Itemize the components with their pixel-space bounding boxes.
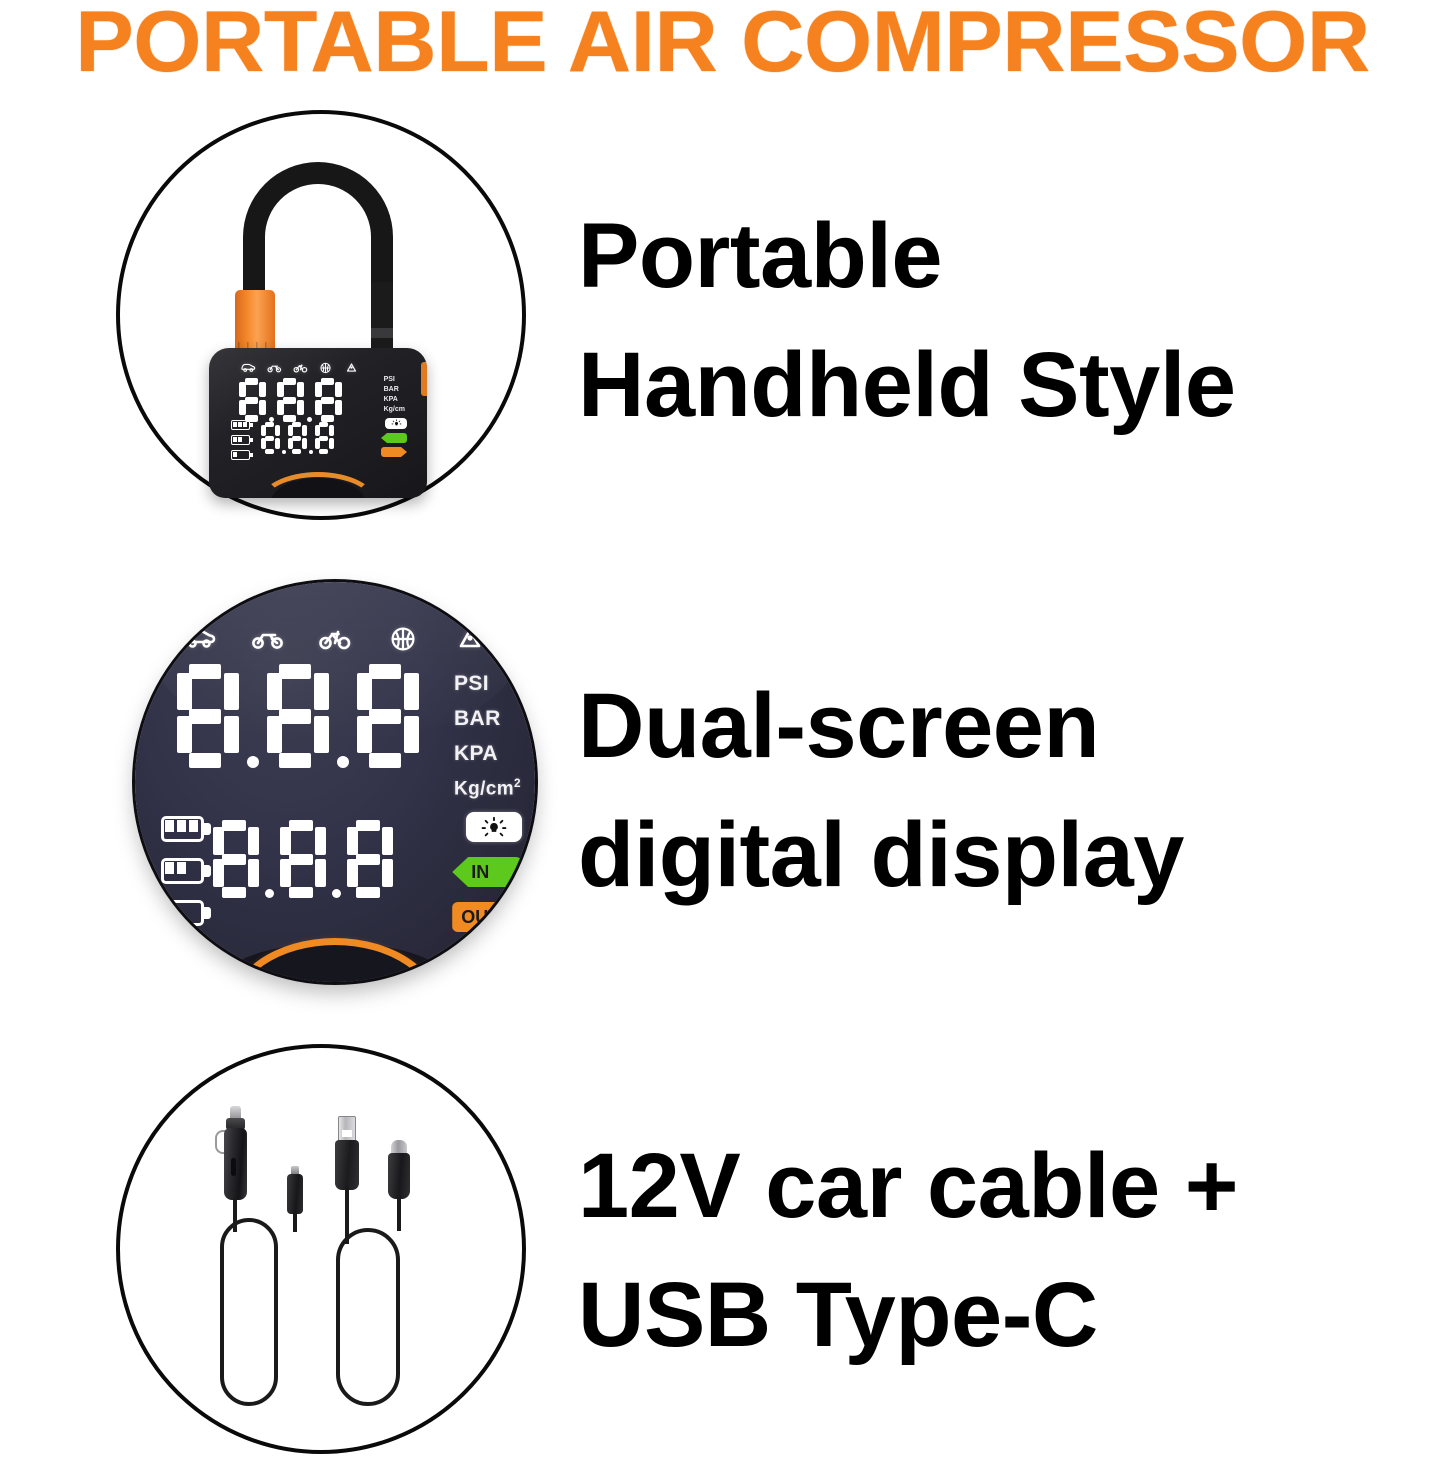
compressor-face-disc: PSI BAR KPA Kg/cm2 xyxy=(135,582,535,982)
battery-medium-icon xyxy=(161,858,211,884)
feature-row-portable-handheld: PSI BAR KPA Kg/cm xyxy=(0,96,1445,546)
light-icon xyxy=(385,418,407,429)
feature-text-display: Dual-screen digital display xyxy=(560,662,1445,920)
decimal-point xyxy=(337,756,349,768)
in-badge xyxy=(381,433,407,443)
plug-cable xyxy=(233,1198,237,1232)
feature-text-handheld: Portable Handheld Style xyxy=(560,192,1445,450)
mini-unit-kgcm2: Kg/cm xyxy=(384,406,405,413)
dc-body xyxy=(287,1174,303,1214)
decimal-point xyxy=(282,450,286,454)
page-title-band: PORTABLE AIR COMPRESSOR xyxy=(0,0,1445,84)
usb-c-cable xyxy=(397,1195,401,1231)
unit-kgcm2: Kg/cm2 xyxy=(454,777,521,800)
bicycle-icon xyxy=(293,362,308,374)
usb-a-housing xyxy=(335,1140,359,1190)
feature-row-dual-screen: PSI BAR KPA Kg/cm2 xyxy=(0,566,1445,1016)
mini-primary-reading xyxy=(239,378,342,422)
usb-c-housing xyxy=(388,1153,410,1199)
decimal-point xyxy=(309,450,313,454)
motorcycle-icon xyxy=(267,362,282,374)
feature-3-line-1: 12V car cable + xyxy=(578,1122,1445,1251)
mini-battery-indicators xyxy=(231,420,253,460)
decimal-point xyxy=(265,889,274,898)
seven-segment-digit xyxy=(177,664,239,768)
12v-car-plug xyxy=(218,1106,254,1226)
cables-illustration xyxy=(196,1100,446,1420)
seven-segment-digit xyxy=(277,378,304,422)
seven-segment-digit xyxy=(288,422,307,454)
seven-segment-digit xyxy=(267,664,329,768)
inflatable-icon xyxy=(453,626,487,652)
feature-3-line-2: USB Type-C xyxy=(578,1251,1445,1380)
light-icon xyxy=(466,812,522,842)
seven-segment-digit xyxy=(261,422,280,454)
battery-medium-icon xyxy=(231,435,253,445)
circle-frame xyxy=(116,1044,526,1454)
mini-unit-psi: PSI xyxy=(384,376,405,383)
feature-image-handheld: PSI BAR KPA Kg/cm xyxy=(0,96,560,546)
out-badge: OUT xyxy=(452,902,522,932)
mini-unit-labels: PSI BAR KPA Kg/cm xyxy=(384,376,405,413)
mini-secondary-reading xyxy=(261,422,334,454)
primary-reading xyxy=(177,664,419,768)
plug-body xyxy=(224,1128,247,1200)
feature-row-cables: 12V car cable + USB Type-C xyxy=(0,1036,1445,1466)
car-cable-loop xyxy=(220,1218,278,1406)
unit-psi: PSI xyxy=(454,672,489,696)
seven-segment-digit xyxy=(280,820,326,898)
battery-full-icon xyxy=(161,816,211,842)
status-badges: IN OUT xyxy=(452,812,522,932)
feature-2-line-2: digital display xyxy=(578,791,1445,920)
decimal-point xyxy=(332,889,341,898)
motorcycle-icon xyxy=(251,626,285,652)
mini-status-badges xyxy=(381,418,407,457)
battery-low-icon xyxy=(161,900,211,926)
battery-low-icon xyxy=(231,450,253,460)
usb-a-cable xyxy=(345,1186,349,1244)
seven-segment-digit xyxy=(347,820,393,898)
basketball-icon xyxy=(318,362,333,374)
mode-icon-row xyxy=(183,626,487,652)
page-title: PORTABLE AIR COMPRESSOR xyxy=(75,0,1369,84)
mini-mode-icon-row xyxy=(241,362,359,374)
out-badge xyxy=(381,447,407,457)
car-icon xyxy=(241,362,256,374)
side-button[interactable] xyxy=(421,362,427,396)
usb-c-connector xyxy=(386,1140,412,1230)
in-badge: IN xyxy=(452,857,522,887)
handheld-compressor-illustration: PSI BAR KPA Kg/cm xyxy=(201,162,441,492)
unit-labels: PSI BAR KPA Kg/cm2 xyxy=(454,672,521,800)
feature-1-line-1: Portable xyxy=(578,192,1445,321)
inflatable-icon xyxy=(344,362,359,374)
hose-band xyxy=(371,328,393,338)
seven-segment-digit xyxy=(239,378,266,422)
feature-image-cables xyxy=(0,1036,560,1466)
seven-segment-digit xyxy=(213,820,259,898)
battery-full-icon xyxy=(231,420,253,430)
seven-segment-digit xyxy=(315,378,342,422)
dc-barrel-connector xyxy=(284,1166,306,1228)
secondary-reading xyxy=(213,820,393,898)
dc-cable xyxy=(293,1212,297,1232)
feature-2-line-1: Dual-screen xyxy=(578,662,1445,791)
mini-unit-bar: BAR xyxy=(384,386,405,393)
compressor-body: PSI BAR KPA Kg/cm xyxy=(209,348,427,498)
circle-frame: PSI BAR KPA Kg/cm xyxy=(116,110,526,520)
seven-segment-digit xyxy=(357,664,419,768)
mini-lcd-screen: PSI BAR KPA Kg/cm xyxy=(231,362,407,466)
usb-a-connector xyxy=(332,1116,362,1228)
usb-a-metal-shell xyxy=(338,1116,356,1142)
feature-1-line-2: Handheld Style xyxy=(578,321,1445,450)
car-icon xyxy=(183,626,217,652)
decimal-point xyxy=(247,756,259,768)
unit-bar: BAR xyxy=(454,707,501,731)
battery-indicators xyxy=(161,816,211,926)
mini-unit-kpa: KPA xyxy=(384,396,405,403)
feature-image-display: PSI BAR KPA Kg/cm2 xyxy=(0,566,560,1016)
basketball-icon xyxy=(386,626,420,652)
product-infographic: PORTABLE AIR COMPRESSOR xyxy=(0,0,1445,1470)
feature-text-cables: 12V car cable + USB Type-C xyxy=(560,1122,1445,1380)
unit-kpa: KPA xyxy=(454,742,498,766)
usb-cable-loop xyxy=(336,1228,400,1406)
bicycle-icon xyxy=(318,626,352,652)
lcd-display: PSI BAR KPA Kg/cm2 xyxy=(135,582,535,982)
seven-segment-digit xyxy=(315,422,334,454)
